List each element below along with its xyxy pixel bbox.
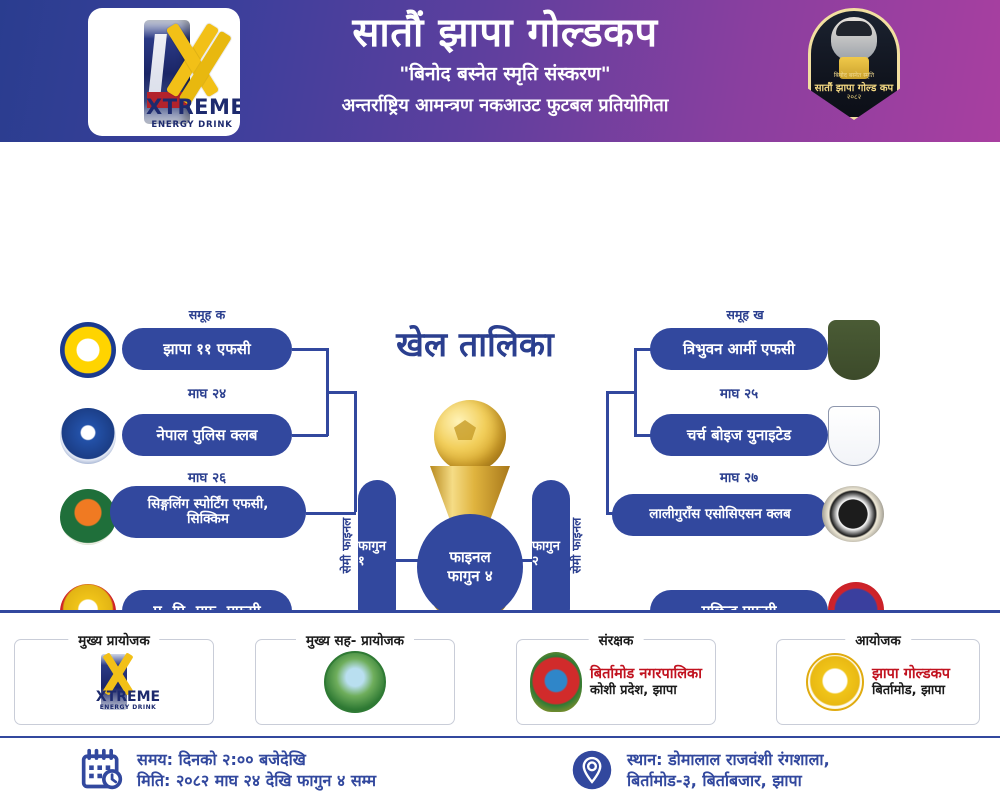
emblem-line-1: बिनोद बस्नेत स्मृति — [811, 71, 897, 79]
bracket-line — [292, 348, 328, 351]
emblem-shield-icon: बिनोद बस्नेत स्मृति सातौं झापा गोल्ड कप … — [808, 8, 900, 120]
xtreme-sponsor-logo: XTREME ENERGY DRINK — [88, 8, 240, 136]
page-title: सातौं झापा गोल्डकप — [270, 10, 740, 56]
header-subtitle: "बिनोद बस्नेत स्मृति संस्करण" — [270, 60, 740, 86]
venue-info: स्थान: डोमालाल राजवंशी रंगशाला, बिर्तामो… — [570, 748, 830, 792]
sponsor-caption-patron: संरक्षक — [589, 631, 644, 649]
schedule-date: मिति: २०८२ माघ २४ देखि फागुन ४ सम्म — [137, 770, 376, 791]
singling-sporting-fc-logo — [60, 489, 116, 545]
venue-text: स्थान: डोमालाल राजवंशी रंगशाला, बिर्तामो… — [627, 749, 830, 792]
laliguras-association-club-logo — [822, 486, 884, 542]
trophy-cup — [430, 466, 510, 518]
team-pill-tribhuvan-army-fc[interactable]: त्रिभुवन आर्मी एफसी — [650, 328, 828, 370]
semifinal-right-pill[interactable]: फागुन २ — [532, 480, 570, 628]
match-date-left-2: माघ २६ — [127, 468, 287, 486]
nepal-government-emblem — [530, 652, 582, 712]
match-date-left-1: माघ २४ — [127, 384, 287, 402]
semifinal-left-pill[interactable]: फागुन १ — [358, 480, 396, 628]
co-sponsor-circular-logo — [324, 651, 386, 713]
sponsor-box-main: मुख्य प्रायोजक XTREME ENERGY DRINK — [14, 639, 214, 725]
semifinal-left-label: सेमी फाइनल — [337, 518, 354, 574]
sponsor-box-patron: संरक्षक बिर्तामोड नगरपालिका कोशी प्रदेश,… — [516, 639, 716, 725]
patron-title: बिर्तामोड नगरपालिका — [590, 666, 702, 683]
sponsor-box-organizer: आयोजक झापा गोल्डकप बिर्तामोड, झापा — [776, 639, 980, 725]
patron-text: बिर्तामोड नगरपालिका कोशी प्रदेश, झापा — [590, 666, 702, 699]
bracket-title: खेल तालिका — [330, 320, 620, 366]
header-tagline: अन्तर्राष्ट्रिय आमन्त्रण नकआउट फुटबल प्र… — [270, 93, 740, 117]
sponsors-section: मुख्य प्रायोजक XTREME ENERGY DRINK मुख्य… — [0, 613, 1000, 735]
xtreme-wordmark: XTREME ENERGY DRINK — [146, 97, 238, 130]
tribhuvan-army-fc-logo — [828, 320, 880, 380]
trophy-ball-icon — [434, 400, 506, 472]
sponsor-box-co-sponsor: मुख्य सह- प्रायोजक — [255, 639, 455, 725]
venue-line-1: स्थान: डोमालाल राजवंशी रंगशाला, — [627, 749, 830, 770]
team-pill-nepal-police-club[interactable]: नेपाल पुलिस क्लब — [122, 414, 292, 456]
match-date-right-1: माघ २५ — [659, 384, 819, 402]
xtreme-brand-tagline: ENERGY DRINK — [146, 120, 238, 130]
organizer-text: झापा गोल्डकप बिर्तामोड, झापा — [872, 666, 950, 699]
jhapa-gold-cup-logo — [806, 653, 864, 711]
bracket-line — [606, 391, 636, 394]
semifinal-right-date: फागुन २ — [532, 539, 570, 570]
final-label: फाइनल — [449, 548, 490, 567]
emblem-line-3: २०८२ — [811, 93, 897, 102]
church-boys-united-logo — [828, 406, 880, 466]
final-match-badge[interactable]: फाइनल फागुन ४ — [417, 514, 523, 620]
schedule-time: समय: दिनको २:०० बजेदेखि — [137, 749, 376, 770]
organizer-subtitle: बिर्तामोड, झापा — [872, 683, 950, 699]
page-header: XTREME ENERGY DRINK सातौं झापा गोल्डकप "… — [0, 0, 1000, 142]
team-pill-church-boys-united[interactable]: चर्च बोइज युनाइटेड — [650, 414, 828, 456]
semifinal-right-label: सेमी फाइनल — [567, 518, 584, 574]
xtreme-brand-name: XTREME — [146, 97, 238, 118]
patron-subtitle: कोशी प्रदेश, झापा — [590, 683, 702, 699]
bracket-line — [326, 391, 356, 394]
xtreme-energy-drink-logo: XTREME ENERGY DRINK — [58, 651, 170, 713]
footer-info: समय: दिनको २:०० बजेदेखि मिति: २०८२ माघ २… — [0, 738, 1000, 808]
venue-line-2: बिर्तामोड-३, बिर्ताबजार, झापा — [627, 770, 830, 791]
tournament-bracket: खेल तालिका समूह क समूह ख झापा ११ एफसी ने… — [0, 142, 1000, 607]
match-date-right-2: माघ २७ — [659, 468, 819, 486]
schedule-text: समय: दिनको २:०० बजेदेखि मिति: २०८२ माघ २… — [137, 749, 376, 792]
sponsor-caption-main: मुख्य प्रायोजक — [68, 631, 159, 649]
nepal-police-club-logo — [60, 408, 116, 464]
group-label-left: समूह क — [147, 306, 267, 323]
organizer-title: झापा गोल्डकप — [872, 666, 950, 683]
final-date: फागुन ४ — [447, 567, 492, 586]
emblem-portrait-icon — [831, 17, 877, 61]
team-pill-jhapa-xi-fc[interactable]: झापा ११ एफसी — [122, 328, 292, 370]
sponsor-caption-co-sponsor: मुख्य सह- प्रायोजक — [296, 631, 414, 649]
bracket-line — [306, 512, 356, 515]
team-pill-laliguras-association-club[interactable]: लालीगुराँस एसोसिएसन क्लब — [612, 494, 828, 536]
group-label-right: समूह ख — [685, 306, 805, 323]
semifinal-left-date: फागुन १ — [358, 539, 396, 570]
schedule-info: समय: दिनको २:०० बजेदेखि मिति: २०८२ माघ २… — [80, 748, 376, 792]
calendar-clock-icon — [80, 748, 124, 792]
team-pill-singling-sporting-fc[interactable]: सिङ्गलिंग स्पोर्टिंग एफसी, सिक्किम — [110, 486, 306, 538]
bracket-line — [292, 434, 328, 437]
tournament-emblem: बिनोद बस्नेत स्मृति सातौं झापा गोल्ड कप … — [808, 8, 900, 132]
sponsor-caption-organizer: आयोजक — [845, 631, 911, 649]
bracket-line — [354, 391, 357, 512]
bracket-line — [606, 391, 609, 512]
emblem-line-2: सातौं झापा गोल्ड कप — [811, 80, 897, 94]
header-text-block: सातौं झापा गोल्डकप "बिनोद बस्नेत स्मृति … — [270, 10, 740, 117]
jhapa-xi-fc-logo — [60, 322, 116, 378]
location-pin-icon — [570, 748, 614, 792]
x-mark-icon — [158, 22, 232, 96]
